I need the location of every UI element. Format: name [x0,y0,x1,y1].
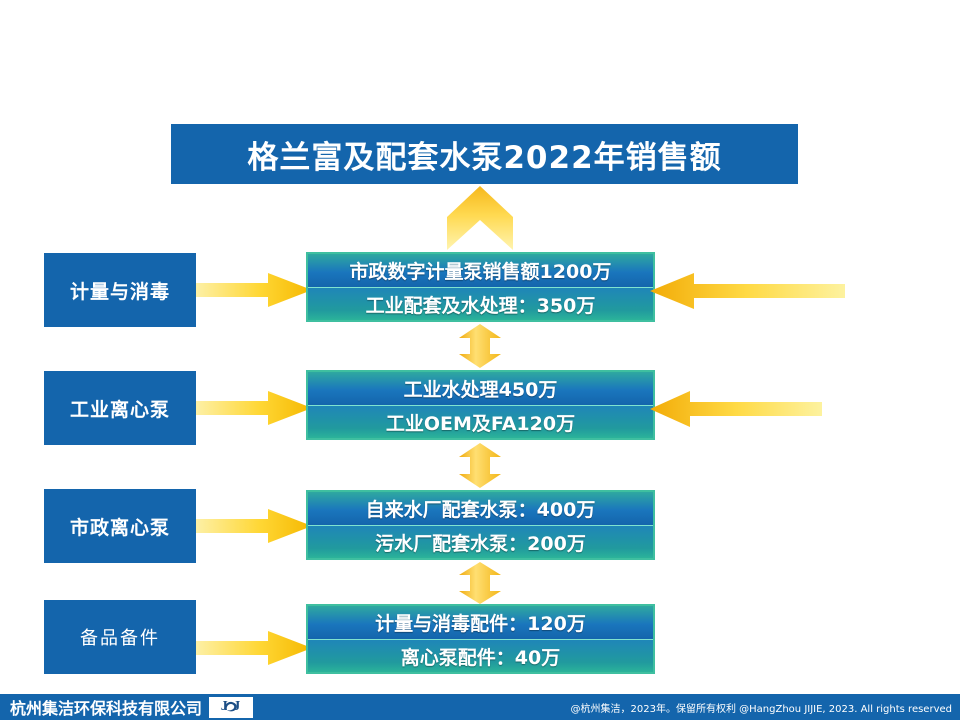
value-group-1: 市政数字计量泵销售额1200万 工业配套及水处理：350万 [306,252,655,322]
category-label: 计量与消毒 [70,277,170,304]
flow-arrow-right-4 [196,629,312,667]
flow-arrow-left-1 [650,272,845,310]
flow-arrow-left-2 [650,390,822,428]
footer-copyright: @杭州集洁，2023年。保留所有权利 @HangZhou JIJIE, 2023… [571,700,952,715]
category-box-industrial-centrifugal[interactable]: 工业离心泵 [44,371,196,445]
title-banner: 格兰富及配套水泵2022年销售额 [171,124,798,184]
value-text: 工业OEM及FA120万 [386,409,575,436]
updown-arrow-3 [459,562,501,604]
value-text: 工业配套及水处理：350万 [366,291,596,318]
value-row-bottom[interactable]: 工业OEM及FA120万 [308,405,653,438]
page-title: 格兰富及配套水泵2022年销售额 [247,132,721,177]
value-text: 离心泵配件：40万 [401,643,560,670]
value-group-2: 工业水处理450万 工业OEM及FA120万 [306,370,655,440]
slide-canvas: 格兰富及配套水泵2022年销售额 计量与消毒 工业离心泵 市政离心泵 备品备件 [0,0,960,720]
updown-arrow-2 [459,443,501,488]
value-text: 计量与消毒配件：120万 [375,609,586,636]
category-box-municipal-centrifugal[interactable]: 市政离心泵 [44,489,196,563]
category-label: 市政离心泵 [70,513,170,540]
value-row-top[interactable]: 自来水厂配套水泵：400万 [308,492,653,525]
category-label: 备品备件 [80,624,160,650]
flow-arrow-right-3 [196,507,312,545]
value-row-top[interactable]: 工业水处理450万 [308,372,653,405]
value-row-bottom[interactable]: 污水厂配套水泵：200万 [308,525,653,558]
footer-company-name: 杭州集洁环保科技有限公司 [10,695,202,719]
company-logo: J J [209,697,253,718]
swirl-icon [223,700,239,714]
value-row-bottom[interactable]: 工业配套及水处理：350万 [308,287,653,320]
value-row-bottom[interactable]: 离心泵配件：40万 [308,639,653,672]
updown-arrow-1 [459,324,501,368]
value-text: 工业水处理450万 [404,375,558,402]
value-row-top[interactable]: 计量与消毒配件：120万 [308,606,653,639]
value-row-top[interactable]: 市政数字计量泵销售额1200万 [308,254,653,287]
value-text: 自来水厂配套水泵：400万 [366,495,596,522]
up-chevron-arrow [447,186,513,250]
value-group-4: 计量与消毒配件：120万 离心泵配件：40万 [306,604,655,674]
value-text: 市政数字计量泵销售额1200万 [350,257,612,284]
footer-bar: 杭州集洁环保科技有限公司 J J @杭州集洁，2023年。保留所有权利 @Han… [0,694,960,720]
value-text: 污水厂配套水泵：200万 [375,529,586,556]
value-group-3: 自来水厂配套水泵：400万 污水厂配套水泵：200万 [306,490,655,560]
flow-arrow-right-2 [196,389,312,427]
category-label: 工业离心泵 [70,395,170,422]
category-box-spare-parts[interactable]: 备品备件 [44,600,196,674]
category-box-metering[interactable]: 计量与消毒 [44,253,196,327]
flow-arrow-right-1 [196,271,312,309]
